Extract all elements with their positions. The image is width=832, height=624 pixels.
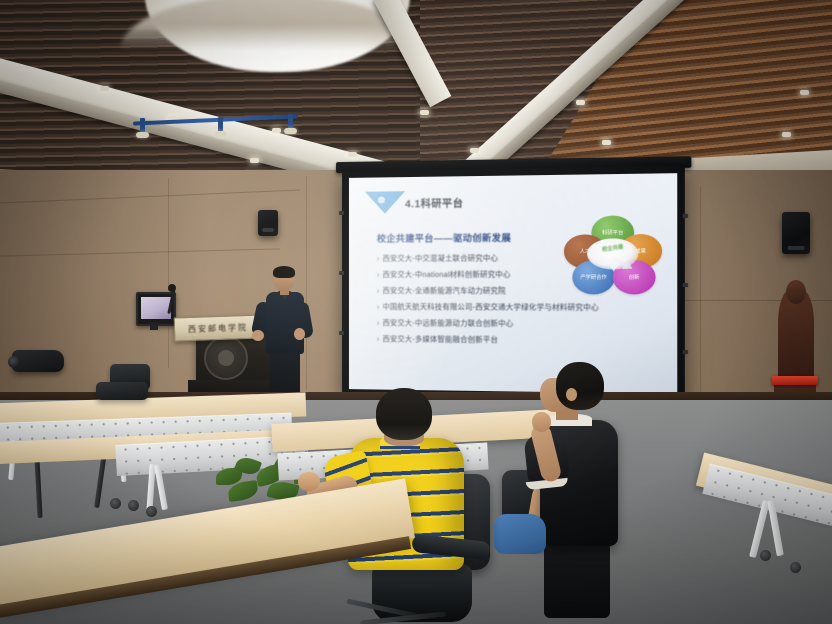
screen-tension-hook: [683, 283, 688, 287]
downlight: [576, 100, 585, 105]
presenter-legs: [270, 352, 300, 396]
podium-name-plaque: 西安邮电学院: [174, 314, 263, 341]
lecture-room-photo: 4.1科研平台 校企共建平台——驱动创新发展 西安交大-中交混凝土联合研究中心 …: [0, 0, 832, 624]
downlight: [602, 140, 611, 145]
presentation-slide: 4.1科研平台 校企共建平台——驱动创新发展 西安交大-中交混凝土联合研究中心 …: [349, 173, 677, 394]
table-caster: [110, 498, 121, 509]
ceiling: [0, 0, 832, 186]
spotlight-head: [136, 132, 149, 138]
sculpture-head: [786, 280, 806, 304]
audience-legs: [544, 538, 610, 618]
table-caster: [790, 562, 801, 573]
audience-head: [556, 362, 604, 410]
screen-tension-hook: [683, 214, 688, 218]
slide-title: 4.1科研平台: [405, 195, 463, 211]
downlight: [782, 132, 791, 137]
audience-ear: [566, 388, 577, 401]
slide-subtitle: 校企共建平台——驱动创新发展: [377, 231, 511, 245]
audience-head: [376, 388, 432, 440]
table-caster: [128, 500, 139, 511]
screen-tension-hook: [683, 350, 688, 354]
table-caster: [760, 550, 771, 561]
downlight: [420, 110, 429, 115]
audience-hand: [298, 472, 320, 491]
downlight: [800, 90, 809, 95]
audience-hand: [532, 412, 551, 432]
presenter-hair: [273, 266, 295, 278]
audience-member-right: [508, 362, 658, 624]
downlight: [272, 128, 281, 133]
slide-triangle-dot-icon: [378, 196, 385, 203]
list-item: 西安交大-中远新能源动力联合创新中心: [377, 318, 599, 329]
presenter-right-hand: [294, 328, 305, 340]
downlight: [470, 148, 479, 153]
presenter-person: [252, 268, 316, 394]
monitor-stand: [150, 322, 158, 330]
sculpture-red-band: [772, 376, 818, 385]
downlight: [348, 152, 357, 157]
camera-lens-icon: [8, 356, 20, 368]
microphone-icon[interactable]: [168, 284, 176, 292]
podium-sign-text: 西安邮电学院: [188, 321, 248, 334]
spotlight-head: [284, 128, 297, 134]
slide-triangle-icon: [365, 191, 405, 214]
table-caster: [146, 506, 157, 517]
downlight: [250, 158, 259, 163]
list-item: 中国航天航天科技有限公司-西安交通大学绿化学与材料研究中心: [377, 302, 599, 313]
screen-tension-hook: [339, 271, 344, 275]
wall-speaker-left: [258, 210, 278, 236]
wall-speaker-right: [782, 212, 810, 254]
flower-diagram: 科研平台 人才 成果 产学研合作 创新 校企共建: [564, 215, 662, 296]
screen-tension-hook: [339, 331, 344, 335]
downlight: [100, 86, 109, 91]
screen-surface: 4.1科研平台 校企共建平台——驱动创新发展 西安交大-中交混凝土联合研究中心 …: [349, 173, 677, 394]
list-item: 西安交大-多媒体智能融合创新平台: [377, 334, 599, 346]
presenter-left-hand: [252, 330, 264, 341]
stacked-chair[interactable]: [96, 382, 148, 400]
monitor-screen: [141, 297, 171, 319]
screen-tension-hook: [339, 211, 344, 215]
podium-emblem-seal: [204, 336, 248, 380]
blue-bag: [494, 514, 546, 554]
presenter-torso: [266, 292, 304, 354]
spotlight-head: [214, 131, 227, 137]
